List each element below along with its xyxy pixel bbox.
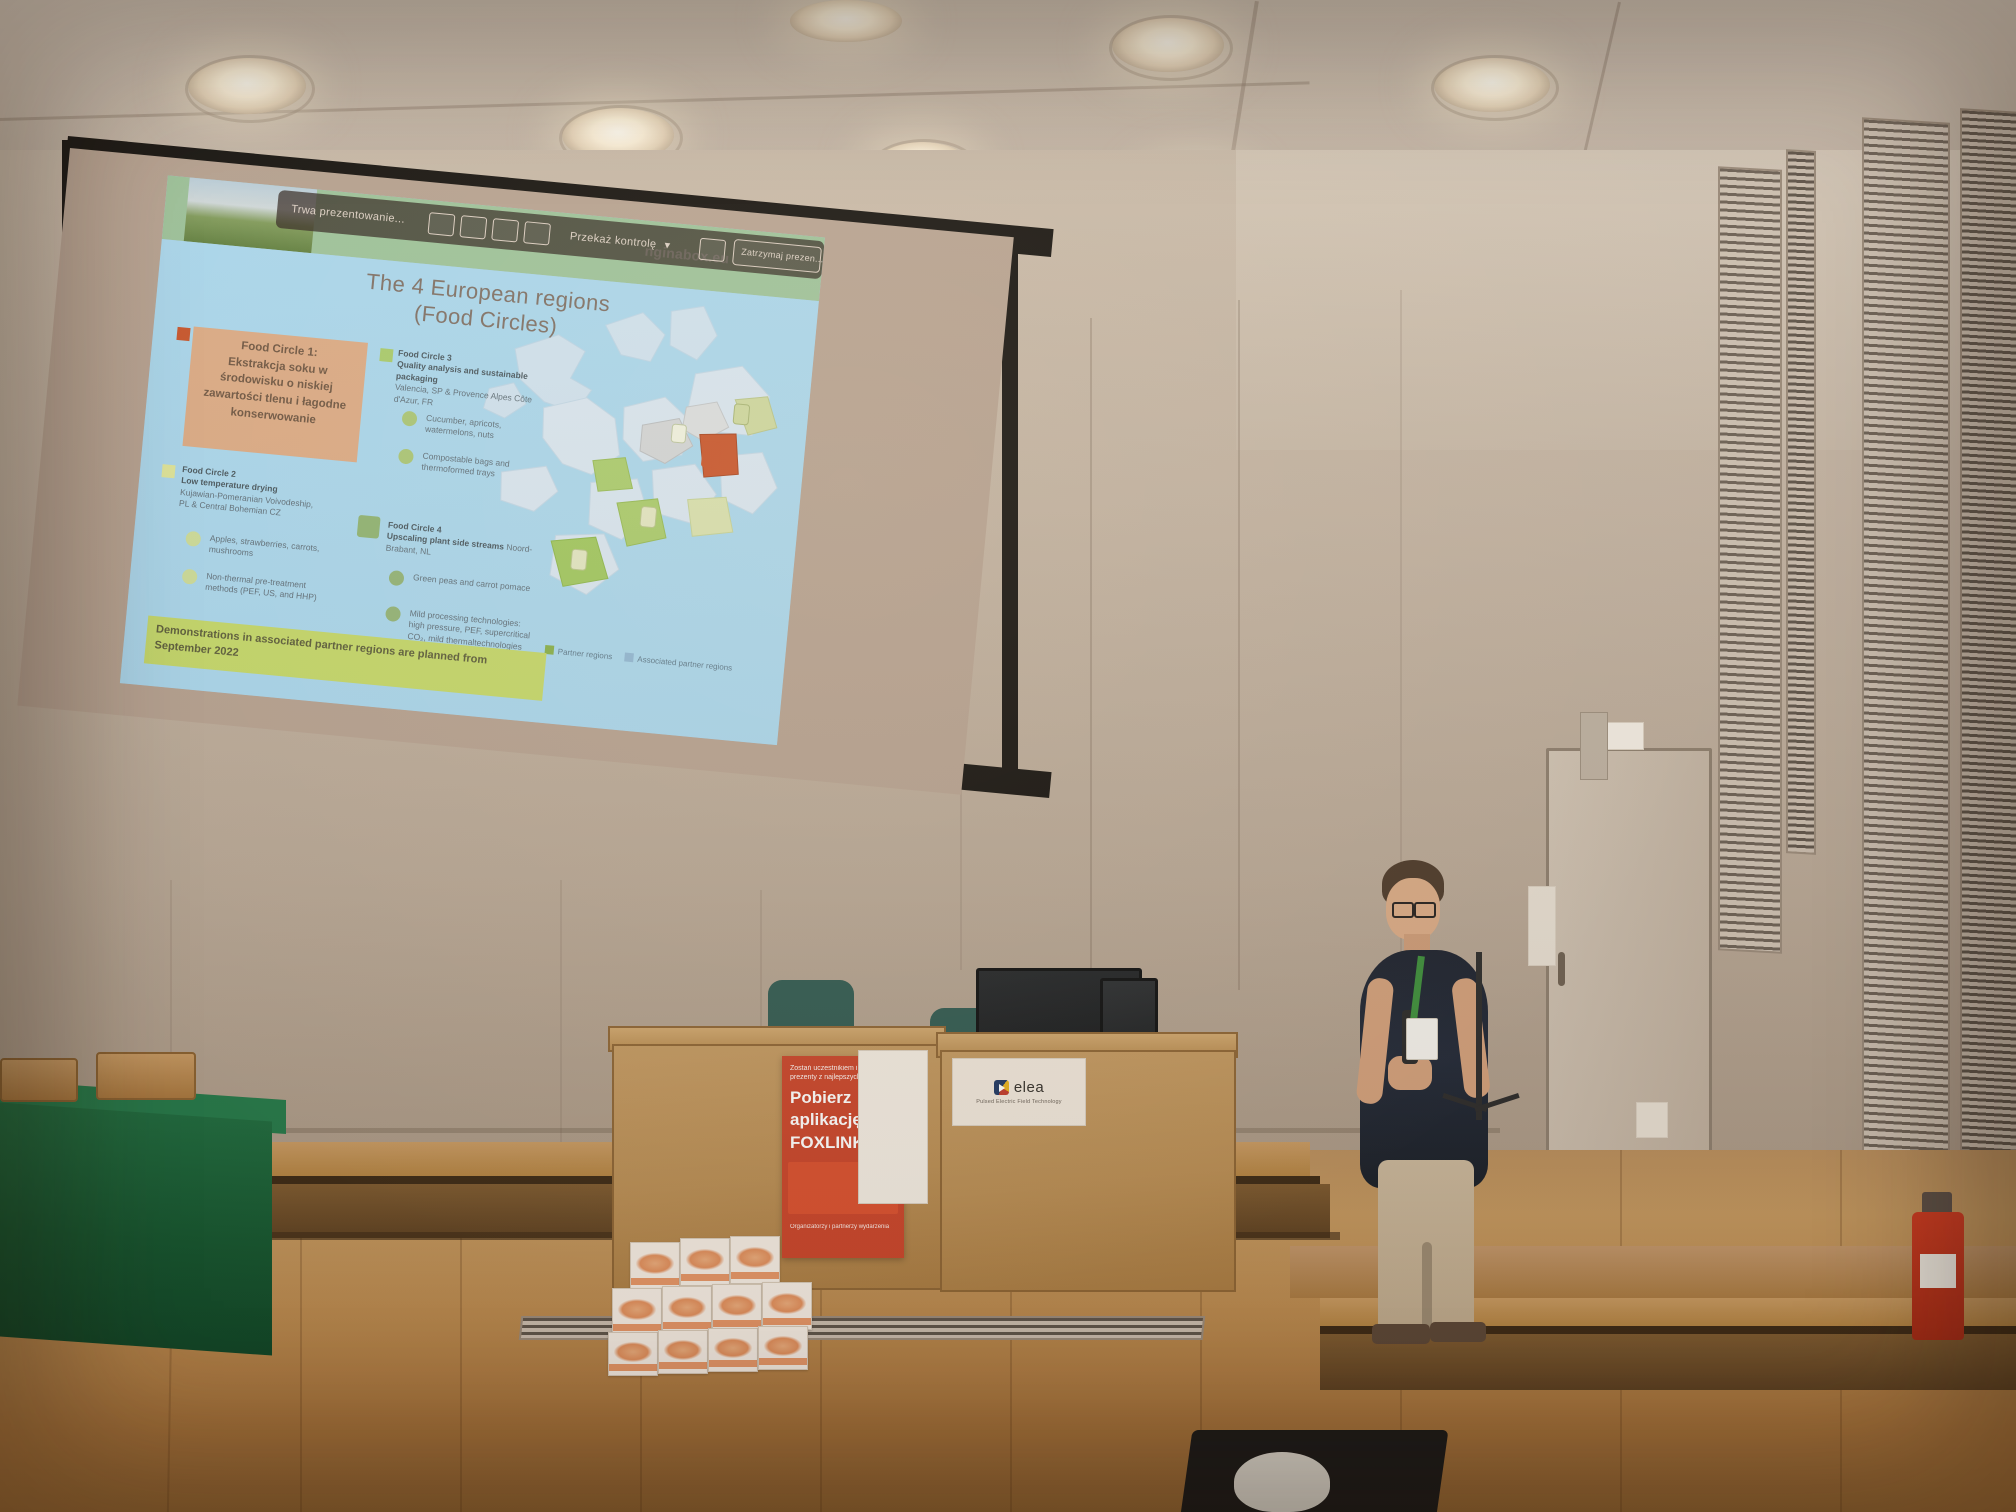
poster-side-card [858,1050,928,1204]
wall-socket-plate[interactable] [1636,1102,1668,1138]
partition-seam-2 [1238,300,1240,990]
layout-side-by-side-button[interactable] [459,215,487,239]
elea-tagline: Pulsed Electric Field Technology [976,1099,1061,1105]
poster-footer: Organizatorzy i partnerzy wydarzenia [782,1220,904,1234]
fc3-swatch [379,348,393,362]
partition-seam-1 [1090,318,1092,978]
exit-door[interactable] [1546,748,1712,1172]
product-box [662,1286,712,1334]
floor-mat-graphic [1234,1452,1330,1512]
elea-play-icon [994,1080,1009,1095]
layout-content-only-button[interactable] [523,221,551,245]
mic-stand-pole [1476,952,1482,1120]
product-box [630,1242,680,1290]
presenter-leg-gap [1422,1242,1432,1334]
layout-reporter-button[interactable] [491,218,519,242]
presenter-shoe-left [1372,1324,1430,1344]
wooden-chair-1[interactable] [96,1052,196,1100]
fc3-region: Valencia, SP & Provence Alpes Côte d'Azu… [393,382,532,407]
product-box [658,1330,708,1374]
wall-grille-far-right [1960,108,2016,1196]
elea-sign: elea Pulsed Electric Field Technology [952,1058,1086,1126]
wall-grille-tall-right [1862,117,1950,1186]
banner-line2: September 2022 [154,639,239,659]
lecture-hall-photo: nginabox.eu [0,0,2016,1512]
door-handle[interactable] [1558,952,1565,986]
fc2-swatch [161,464,175,478]
product-box [608,1332,658,1376]
downlight-ring-1 [185,55,315,123]
product-box [680,1238,730,1286]
wall-grille-tall-left [1718,166,1782,954]
elea-brand: elea [1014,1079,1044,1096]
wall-switch-plate[interactable] [1528,886,1556,966]
downlight-4 [790,0,902,42]
green-table-cloth [0,1102,272,1355]
elea-logo-row: elea [994,1079,1044,1096]
fc4-windmill-icon [357,515,381,539]
fc1-body: Ekstrakcja soku w środowisku o niskiej z… [191,351,360,433]
product-box [712,1284,762,1332]
name-badge [1406,1018,1438,1060]
presenter-glasses-right [1414,902,1436,918]
wall-grille-narrow [1786,149,1816,855]
food-circle-1-box: Food Circle 1: Ekstrakcja soku w środowi… [182,326,368,462]
product-box [612,1288,662,1336]
extinguisher-label [1920,1254,1956,1288]
projection-screen: nginabox.eu [56,118,1056,908]
product-box [758,1326,808,1370]
wooden-chair-2[interactable] [0,1058,78,1102]
partition-seam-6 [560,880,562,1160]
presenter-shoe-right [1430,1322,1486,1342]
product-box [730,1236,780,1284]
downlight-ring-5 [1109,15,1233,81]
layout-standout-button[interactable] [427,212,455,236]
chevron-down-icon: ▾ [664,239,671,251]
product-box [708,1328,758,1372]
presenter-glasses [1392,902,1414,918]
downlight-ring-7 [1431,55,1559,121]
fc3-topic: Quality analysis and sustainable packagi… [396,359,529,384]
product-box [762,1282,812,1330]
stop-share-icon[interactable] [698,238,726,262]
screen-surface: nginabox.eu [17,148,1013,795]
wall-speaker [1580,712,1608,780]
fc1-swatch [176,327,190,341]
